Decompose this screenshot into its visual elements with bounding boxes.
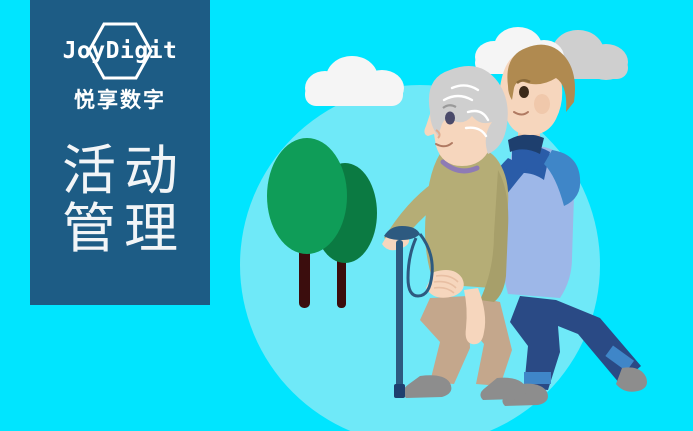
page-title-line-2: 管理 [54,200,186,258]
young-man-eye [519,86,529,98]
young-man-ear [534,94,550,114]
logo-brand-cn: 悦享数字 [74,84,166,114]
logo: JoyDigit [45,22,195,80]
young-man-front-cuff [524,372,551,384]
page-title-line-1: 活动 [54,142,186,200]
woman-eye [445,112,455,125]
page-title: 活动 管理 [54,142,186,259]
brand-panel: JoyDigit 悦享数字 活动 管理 [30,0,210,305]
logo-brand-text: JoyDigit [45,22,195,80]
cane-tip [394,384,405,398]
cane-shaft [396,240,403,390]
